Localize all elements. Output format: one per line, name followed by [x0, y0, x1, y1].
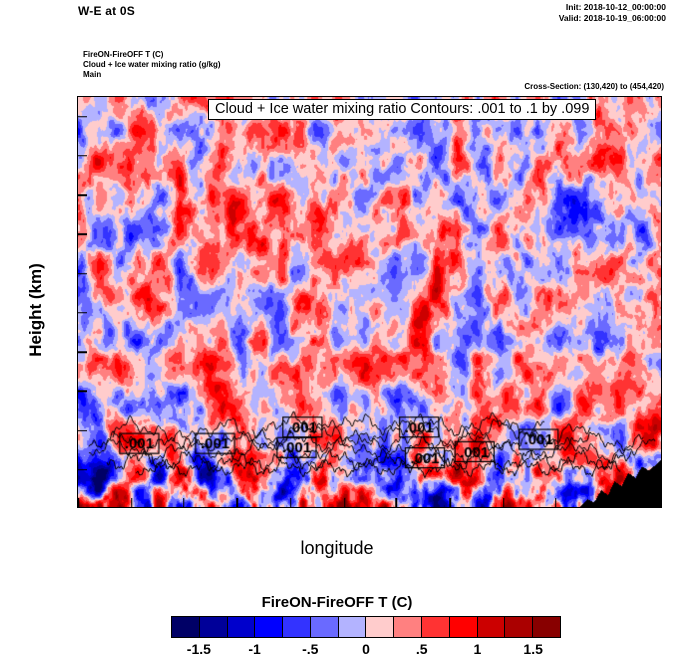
y-tick-mark — [78, 194, 87, 196]
x-tick-mark — [555, 498, 557, 507]
colorbar-swatch — [366, 617, 394, 637]
variable-line-contour: Cloud + Ice water mixing ratio (g/kg) — [83, 60, 221, 70]
colorbar-swatch — [505, 617, 533, 637]
x-tick-mark — [77, 498, 79, 507]
panel-title: W-E at 0S — [78, 4, 135, 18]
colorbar-swatch — [394, 617, 422, 637]
colorbar-swatch — [339, 617, 367, 637]
colorbar-swatch — [533, 617, 560, 637]
x-axis-label: longitude — [0, 538, 674, 559]
colorbar-tick-label: 1 — [474, 641, 482, 657]
y-tick-mark — [78, 469, 87, 471]
colorbar-tick-label: 0 — [362, 641, 370, 657]
y-tick-mark — [78, 116, 87, 118]
colorbar-swatch — [283, 617, 311, 637]
y-tick-mark — [78, 234, 87, 236]
colorbar-swatch — [172, 617, 200, 637]
cross-section-endpoints: Cross-Section: (130,420) to (454,420) — [524, 82, 664, 91]
y-axis-label: Height (km) — [26, 230, 46, 390]
colorbar-swatch — [478, 617, 506, 637]
y-tick-mark — [78, 351, 87, 353]
run-time-block: Init: 2018-10-12_00:00:00 Valid: 2018-10… — [559, 2, 666, 23]
valid-time: Valid: 2018-10-19_06:00:00 — [559, 13, 666, 24]
x-tick-mark — [503, 498, 505, 507]
cross-section-plot: Cloud + Ice water mixing ratio Contours:… — [77, 96, 662, 508]
colorbar-swatch — [228, 617, 256, 637]
x-tick-mark — [609, 498, 611, 507]
y-tick-mark — [78, 273, 87, 275]
colorbar-swatch — [450, 617, 478, 637]
contour-interval-title: Cloud + Ice water mixing ratio Contours:… — [208, 99, 596, 120]
y-tick-mark — [78, 391, 87, 393]
x-tick-mark — [396, 498, 398, 507]
y-tick-mark — [78, 312, 87, 314]
colorbar-swatch — [255, 617, 283, 637]
colorbar-swatch — [200, 617, 228, 637]
colorbar-tick-label: -1.5 — [187, 641, 211, 657]
colorbar-swatch — [311, 617, 339, 637]
colorbar-tick-label: -1 — [248, 641, 260, 657]
variable-line-shaded: FireON-FireOFF T (C) — [83, 50, 221, 60]
variable-annotation-block: FireON-FireOFF T (C) Cloud + Ice water m… — [83, 50, 221, 80]
shaded-temperature-field — [78, 97, 661, 507]
colorbar-tick-label: -.5 — [302, 641, 318, 657]
colorbar-title: FireON-FireOFF T (C) — [0, 594, 674, 611]
colorbar-tick-label: 1.5 — [523, 641, 542, 657]
colorbar-tick-labels: -1.5-1-.50.511.5 — [171, 641, 561, 661]
colorbar-tick-label: .5 — [416, 641, 428, 657]
domain-name: Main — [83, 70, 221, 80]
y-tick-mark — [78, 155, 87, 157]
x-tick-mark — [236, 498, 238, 507]
init-time: Init: 2018-10-12_00:00:00 — [559, 2, 666, 13]
colorbar-swatch — [422, 617, 450, 637]
x-tick-mark — [183, 498, 185, 507]
x-tick-mark — [344, 498, 346, 507]
colorbar — [171, 616, 561, 638]
x-tick-mark — [290, 498, 292, 507]
x-tick-mark — [131, 498, 133, 507]
y-tick-mark — [78, 430, 87, 432]
x-tick-mark — [449, 498, 451, 507]
